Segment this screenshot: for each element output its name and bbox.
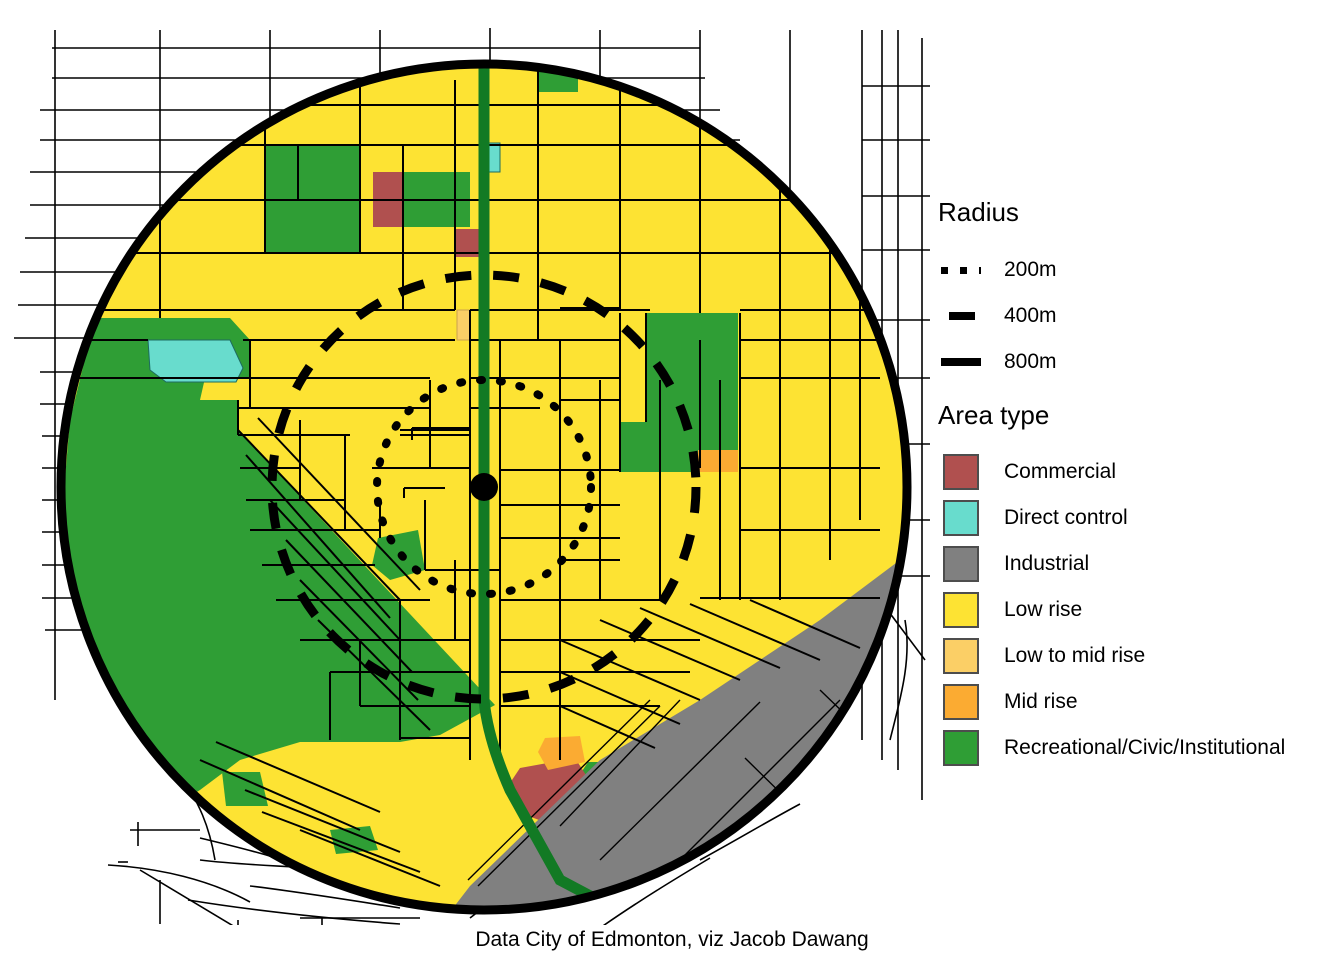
map-panel — [0, 0, 930, 925]
map-svg — [0, 0, 930, 925]
source-caption: Data City of Edmonton, viz Jacob Dawang — [0, 928, 1344, 952]
legend-area-type-title: Area type — [938, 400, 1049, 431]
legend-radius-item-400m[interactable]: 400m — [938, 296, 1057, 336]
legend-area-label-direct-control: Direct control — [1004, 506, 1128, 530]
color-swatch-icon — [938, 500, 984, 536]
solid-line-icon — [938, 358, 984, 366]
legend-area-item-direct-control[interactable]: Direct control — [938, 498, 1128, 538]
figure-root: Zoning around Avonmore LRT station — [0, 0, 1344, 960]
dotted-line-icon — [938, 267, 984, 274]
legend-radius-label-800m: 800m — [1004, 350, 1057, 374]
legend-area-item-low-to-mid-rise[interactable]: Low to mid rise — [938, 636, 1145, 676]
legend-radius-item-200m[interactable]: 200m — [938, 250, 1057, 290]
legend-area-label-low-rise: Low rise — [1004, 598, 1082, 622]
legend-radius-item-800m[interactable]: 800m — [938, 342, 1057, 382]
legend-area-label-recreational: Recreational/Civic/Institutional — [1004, 736, 1285, 760]
zone-low-to-mid-rise — [457, 310, 470, 340]
color-swatch-icon — [938, 454, 984, 490]
legend-area-label-commercial: Commercial — [1004, 460, 1116, 484]
color-swatch-icon — [938, 546, 984, 582]
station-center-dot[interactable] — [470, 473, 498, 501]
legend-radius-label-400m: 400m — [1004, 304, 1057, 328]
legend-panel: Radius 200m 400m 800m Area type Commerci… — [930, 0, 1344, 925]
mid-rise-east — [698, 450, 738, 472]
legend-area-label-low-to-mid-rise: Low to mid rise — [1004, 644, 1145, 668]
legend-area-item-low-rise[interactable]: Low rise — [938, 590, 1082, 630]
color-swatch-icon — [938, 730, 984, 766]
color-swatch-icon — [938, 684, 984, 720]
legend-area-item-commercial[interactable]: Commercial — [938, 452, 1116, 492]
legend-area-label-mid-rise: Mid rise — [1004, 690, 1078, 714]
color-swatch-icon — [938, 592, 984, 628]
park-sw-a — [222, 772, 268, 806]
legend-area-label-industrial: Industrial — [1004, 552, 1089, 576]
legend-radius-title: Radius — [938, 197, 1019, 228]
color-swatch-icon — [938, 638, 984, 674]
zone-direct-control-west — [148, 340, 243, 382]
legend-area-item-recreational[interactable]: Recreational/Civic/Institutional — [938, 728, 1285, 768]
dashed-line-icon — [938, 312, 984, 320]
legend-area-item-industrial[interactable]: Industrial — [938, 544, 1089, 584]
legend-radius-label-200m: 200m — [1004, 258, 1057, 282]
legend-area-item-mid-rise[interactable]: Mid rise — [938, 682, 1078, 722]
